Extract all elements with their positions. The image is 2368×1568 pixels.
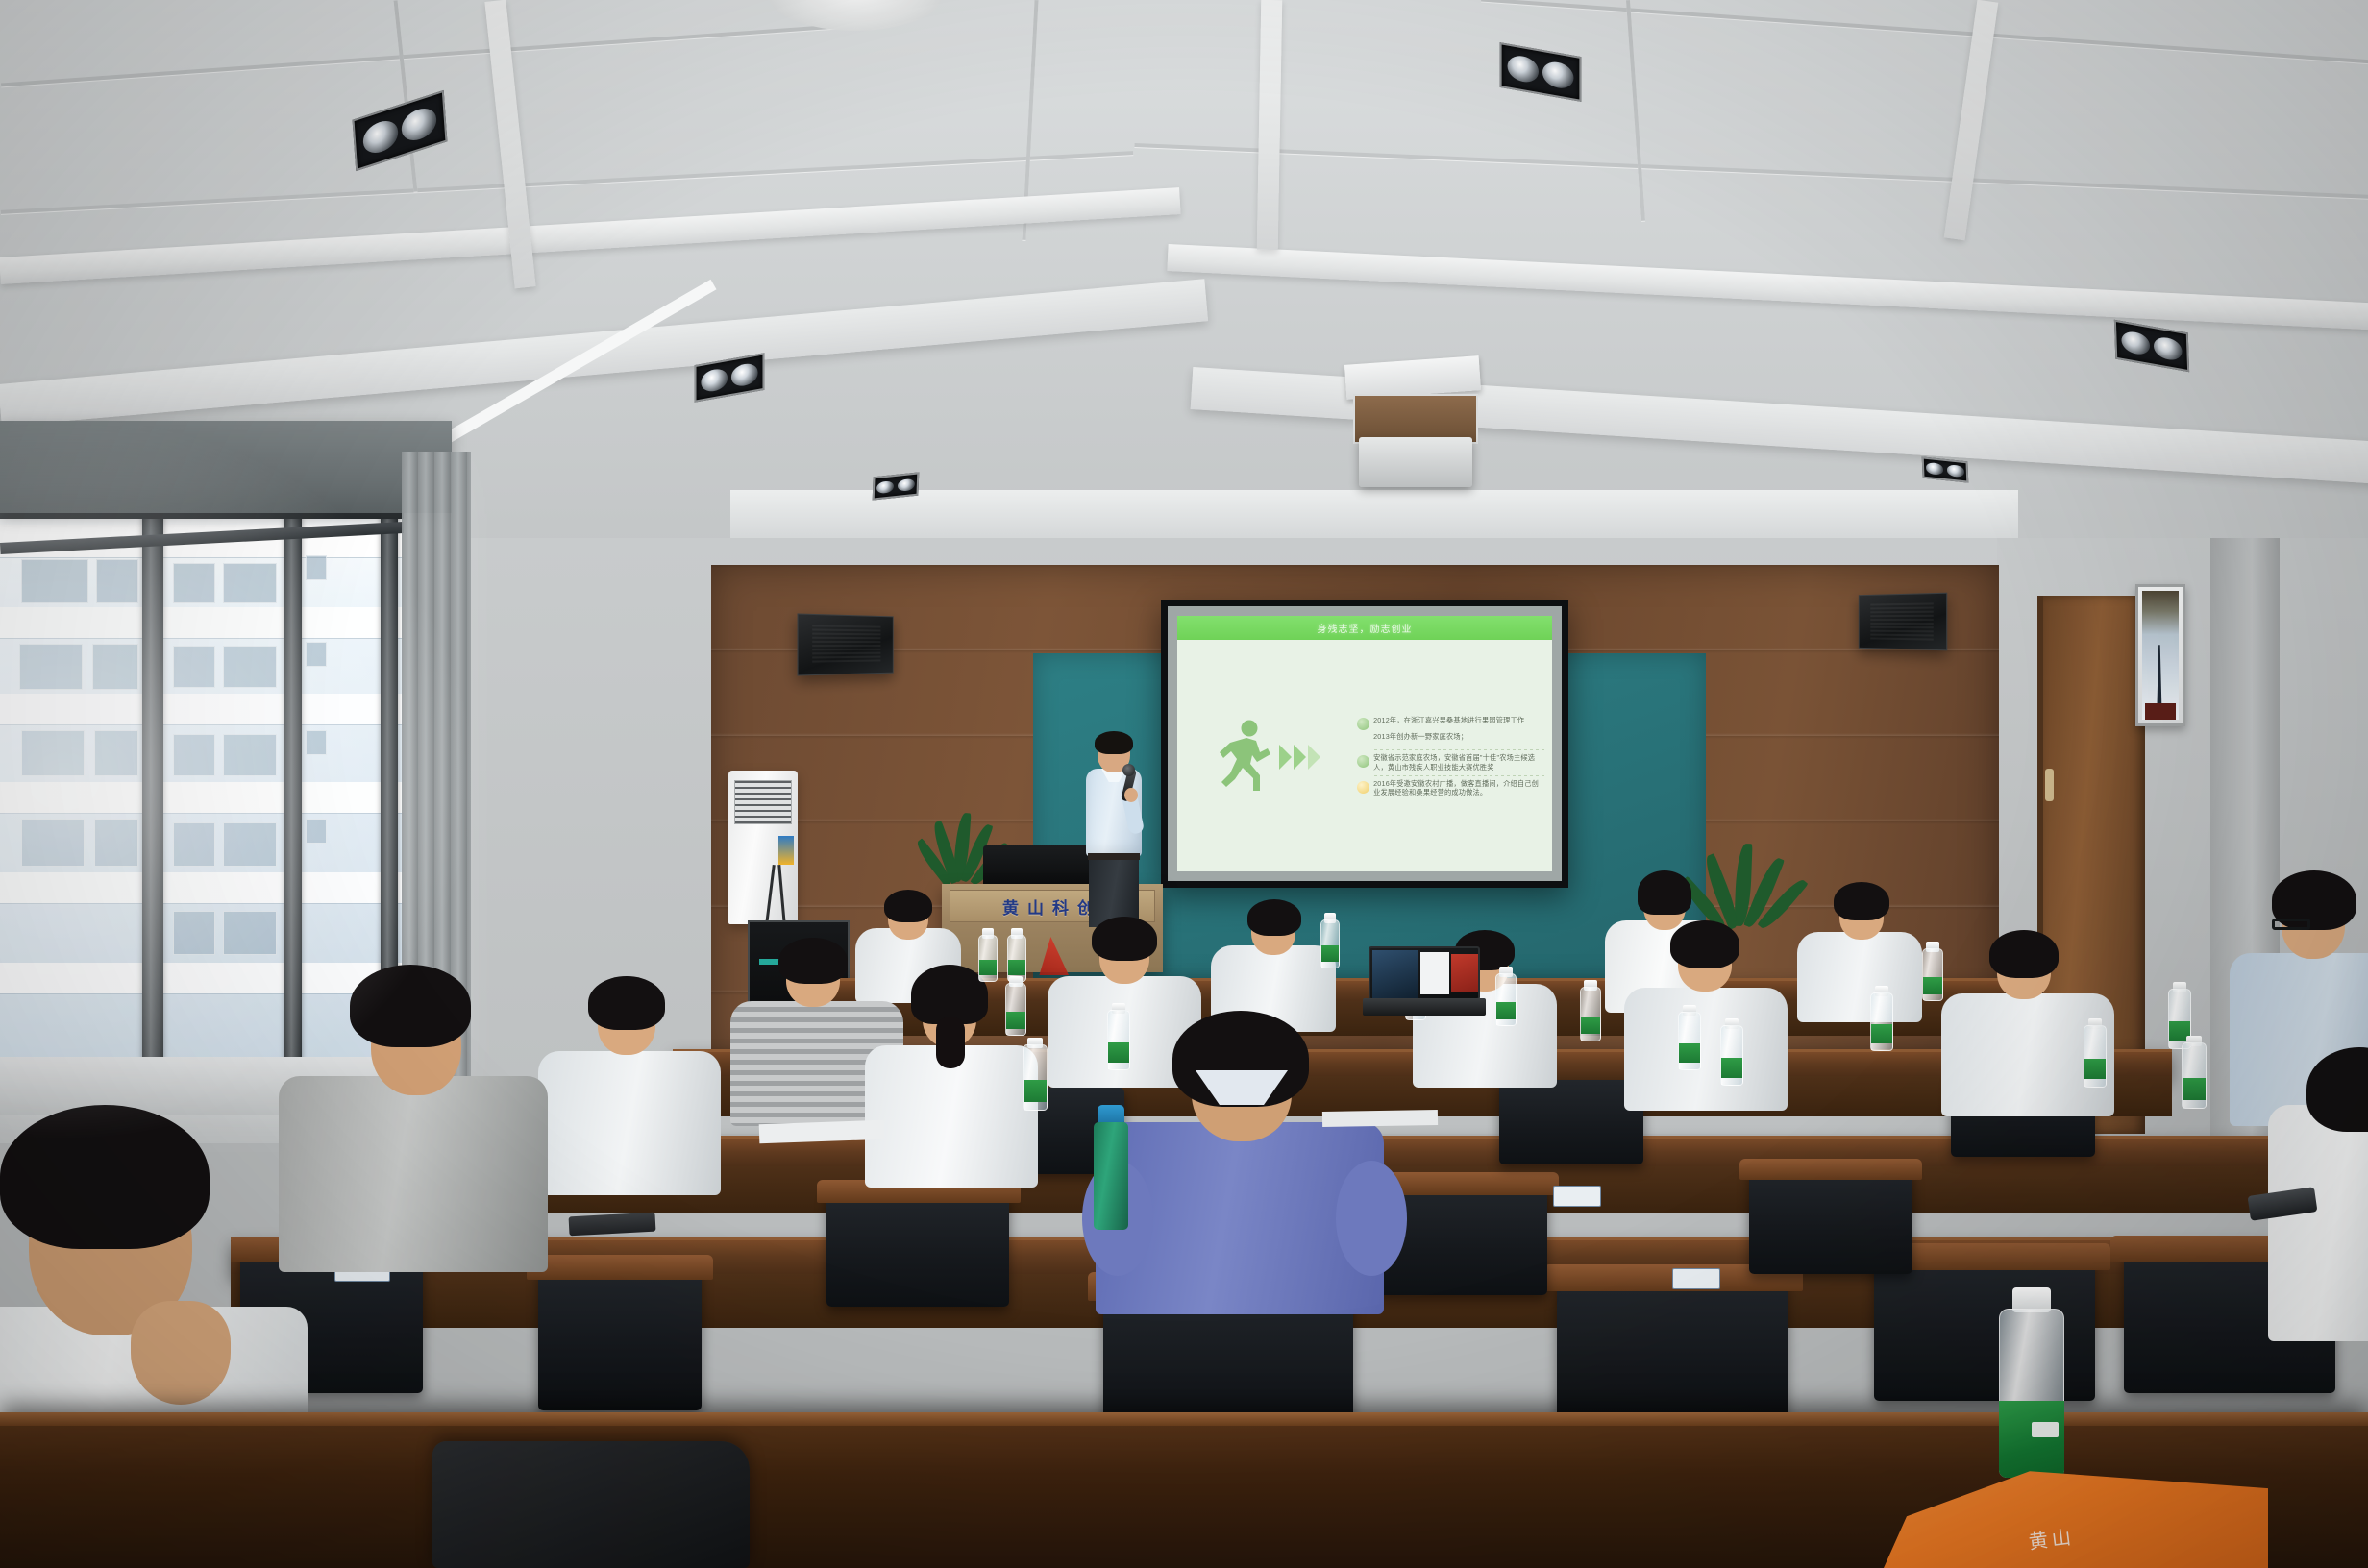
chair[interactable] (1499, 1080, 1643, 1164)
chair[interactable] (1557, 1278, 1788, 1432)
building-band (0, 782, 404, 813)
building-window (92, 644, 138, 690)
water-bottle[interactable] (1580, 980, 1601, 1041)
poster-caption-band (2145, 703, 2176, 720)
bullet-text: 安徽省示范家庭农场，安徽省首届"十佳"农场主候选人，黄山市残疾人职业技能大赛优胜… (1373, 753, 1544, 772)
door-handle[interactable] (2045, 769, 2054, 801)
attendee-grey-shirt (279, 961, 548, 1268)
building-window (94, 730, 138, 776)
framed-poster (2135, 584, 2185, 726)
building-window (94, 819, 138, 867)
seat-tag (1672, 1268, 1720, 1289)
attendee (1624, 915, 1788, 1107)
water-bottle[interactable] (1007, 928, 1026, 982)
air-conditioner-grill (734, 780, 792, 824)
slide-bullet-list: 2012年，在浙江嘉兴果桑基地进行果园管理工作 2013年创办新一野家庭农场； … (1357, 646, 1544, 868)
water-bottle[interactable] (1870, 986, 1893, 1051)
building-window (223, 911, 277, 955)
bottle-brand-mark (2032, 1422, 2059, 1437)
attendee (538, 970, 721, 1191)
building-window (223, 734, 277, 776)
chair[interactable] (826, 1191, 1009, 1307)
slide-bullet: 2013年创办新一野家庭农场； (1357, 732, 1544, 747)
attendee-blue-polo (1096, 1017, 1384, 1305)
bullet-text: 2016年受邀安徽农村广播，做客直播间，介绍自己创业发展经验和桑果经营的成功做法… (1373, 779, 1544, 797)
chair[interactable] (1749, 1168, 1912, 1274)
chair-frame (1739, 1159, 1922, 1180)
conference-room-photo: 身残志坚，励志创业 (0, 0, 2368, 1568)
building-window (173, 563, 215, 603)
chair[interactable] (538, 1266, 702, 1410)
chevron-icon (1279, 745, 1292, 770)
slide-title-bar: 身残志坚，励志创业 (1177, 616, 1552, 640)
projector (1359, 437, 1472, 487)
building-window (173, 734, 215, 776)
bullet-text: 2012年，在浙江嘉兴果桑基地进行果园管理工作 (1373, 716, 1524, 725)
bullet-marker-icon (1357, 755, 1369, 768)
bottle-body (1094, 1122, 1128, 1230)
laptop-keyboard[interactable] (1363, 998, 1486, 1016)
building-window (223, 563, 277, 603)
sports-bottle[interactable] (1094, 1105, 1128, 1230)
slide-bullet: 安徽省示范家庭农场，安徽省首届"十佳"农场主候选人，黄山市残疾人职业技能大赛优胜… (1357, 753, 1544, 772)
water-bottle[interactable] (2182, 1036, 2207, 1109)
hand (131, 1301, 231, 1405)
building-band (0, 607, 404, 638)
water-bottle[interactable] (1107, 1003, 1130, 1070)
wall-speaker-right (1859, 593, 1947, 651)
water-bottle[interactable] (1922, 942, 1943, 1001)
projection-screen: 身残志坚，励志创业 (1161, 600, 1568, 888)
slide-body: 2012年，在浙江嘉兴果桑基地进行果园管理工作 2013年创办新一野家庭农场； … (1177, 640, 1552, 871)
building-window (306, 730, 327, 755)
chair-frame (527, 1255, 713, 1280)
notepad (1322, 1110, 1438, 1127)
poster-tower-shape (2155, 645, 2164, 712)
presenter-hand (1124, 788, 1138, 802)
window-blind[interactable] (0, 421, 452, 513)
slide-bullet: 2016年受邀安徽农村广播，做客直播间，介绍自己创业发展经验和桑果经营的成功做法… (1357, 779, 1544, 797)
building-window (223, 646, 277, 688)
water-bottle[interactable] (1023, 1038, 1048, 1111)
screen-surface: 身残志坚，励志创业 (1168, 606, 1562, 881)
water-bottle-foreground[interactable] (1997, 1287, 2066, 1478)
water-bottle[interactable] (1005, 976, 1026, 1036)
chevron-icon (1294, 745, 1306, 770)
bullet-marker-icon (1357, 781, 1369, 794)
building-window (306, 819, 327, 844)
building-window (96, 559, 138, 603)
building-window (223, 822, 277, 867)
running-person-icon (1218, 720, 1277, 795)
building-window (173, 822, 215, 867)
water-bottle[interactable] (2084, 1018, 2107, 1088)
bullet-divider (1374, 749, 1544, 750)
tablet-device[interactable] (569, 1213, 656, 1237)
water-bottle[interactable] (1720, 1018, 1743, 1086)
water-bottle[interactable] (1495, 967, 1517, 1026)
laptop-screen (1369, 946, 1480, 1000)
presenter (1082, 734, 1151, 926)
glasses-icon (2272, 919, 2310, 930)
laptop[interactable] (1363, 946, 1486, 1019)
chevron-icon (1308, 745, 1320, 770)
presenter-belt (1088, 853, 1140, 860)
ponytail (936, 1017, 965, 1068)
slide-graphic (1187, 646, 1351, 868)
bottle-label (1999, 1401, 2064, 1478)
water-bottle[interactable] (1678, 1005, 1701, 1070)
attendee (1211, 894, 1336, 1028)
building-window (306, 642, 327, 667)
seat-tag (1553, 1186, 1601, 1207)
slide-title: 身残志坚，励志创业 (1318, 621, 1413, 635)
black-briefcase[interactable] (432, 1441, 750, 1568)
building-band (0, 694, 404, 724)
building-window (306, 555, 327, 580)
building-window (21, 819, 85, 867)
energy-label (778, 836, 794, 865)
window-mullion (142, 500, 163, 1066)
downlight-icon (873, 472, 920, 500)
water-bottle[interactable] (978, 928, 998, 982)
bullet-text: 2013年创办新一野家庭农场； (1373, 732, 1468, 742)
bullet-marker-icon (1357, 718, 1369, 730)
building-window (21, 559, 88, 603)
slide-bullet: 2012年，在浙江嘉兴果桑基地进行果园管理工作 (1357, 716, 1544, 730)
building-window (21, 730, 85, 776)
presenter-hair (1095, 731, 1133, 754)
poster-image (2142, 591, 2179, 720)
wall-speaker-left (798, 613, 894, 675)
presentation-slide: 身残志坚，励志创业 (1177, 616, 1552, 871)
ceiling-beam (1257, 0, 1283, 250)
building-band (0, 872, 404, 903)
building-window (173, 911, 215, 955)
building-window (19, 644, 83, 690)
building-window (173, 646, 215, 688)
bullet-divider (1374, 775, 1544, 776)
microphone-head (1122, 764, 1135, 776)
water-bottle[interactable] (1320, 913, 1340, 968)
attendee (1797, 876, 1922, 1020)
